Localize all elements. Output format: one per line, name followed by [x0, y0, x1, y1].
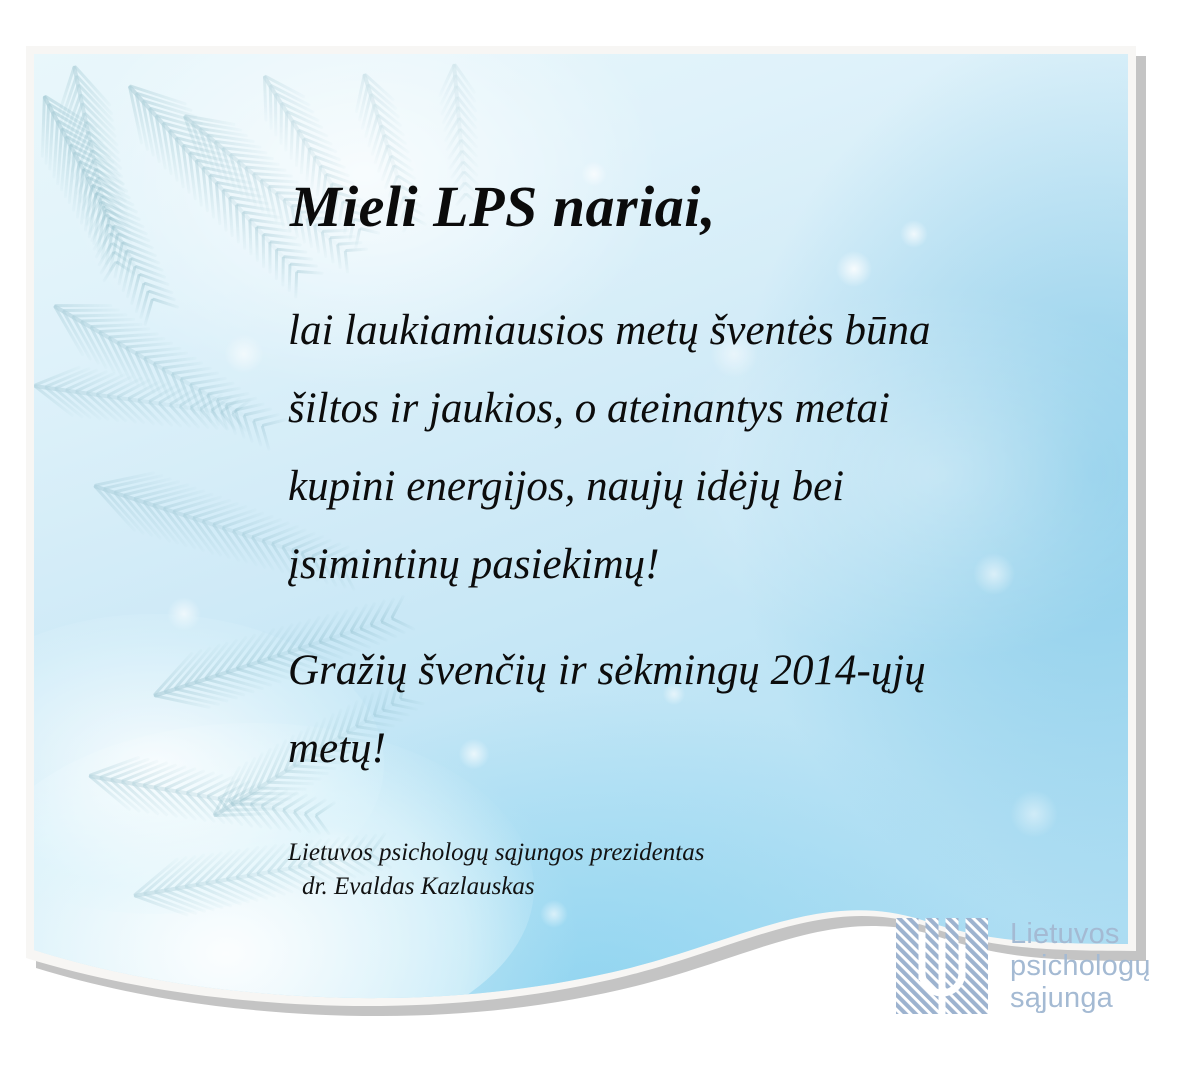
body-line: kupini energijos, naujų idėjų bei [288, 448, 1088, 526]
logo-line-2: psichologų [1010, 950, 1151, 982]
logo-line-1: Lietuvos [1010, 918, 1151, 950]
signature-block: Lietuvos psichologų sąjungos prezidentas… [288, 836, 704, 904]
card-text-block: Mieli LPS nariai, lai laukiamiausios met… [34, 54, 1128, 1013]
body-line: įsimintinų pasiekimų! [288, 526, 1088, 604]
winter-photo-background: Mieli LPS nariai, lai laukiamiausios met… [34, 54, 1128, 1013]
body-line: šiltos ir jaukios, o ateinantys metai [288, 370, 1088, 448]
organization-logo: Lietuvos psichologų sąjunga [896, 918, 1151, 1014]
body-line: metų! [288, 710, 1088, 788]
card-white-frame: Mieli LPS nariai, lai laukiamiausios met… [26, 46, 1136, 1021]
logo-line-3: sąjunga [1010, 982, 1151, 1014]
body-line: Gražių švenčių ir sėkmingų 2014-ųjų [288, 632, 1088, 710]
signature-role: Lietuvos psichologų sąjungos prezidentas [288, 836, 704, 870]
page-title: Mieli LPS nariai, [290, 177, 716, 238]
greeting-card: Mieli LPS nariai, lai laukiamiausios met… [26, 46, 1136, 1021]
greeting-body: lai laukiamiausios metų šventės būna šil… [288, 292, 1088, 788]
logo-wordmark: Lietuvos psichologų sąjunga [1010, 918, 1151, 1014]
body-line: lai laukiamiausios metų šventės būna [288, 292, 1088, 370]
signature-name: dr. Evaldas Kazlauskas [288, 870, 704, 904]
psi-hatched-blocks-icon [896, 918, 988, 1014]
